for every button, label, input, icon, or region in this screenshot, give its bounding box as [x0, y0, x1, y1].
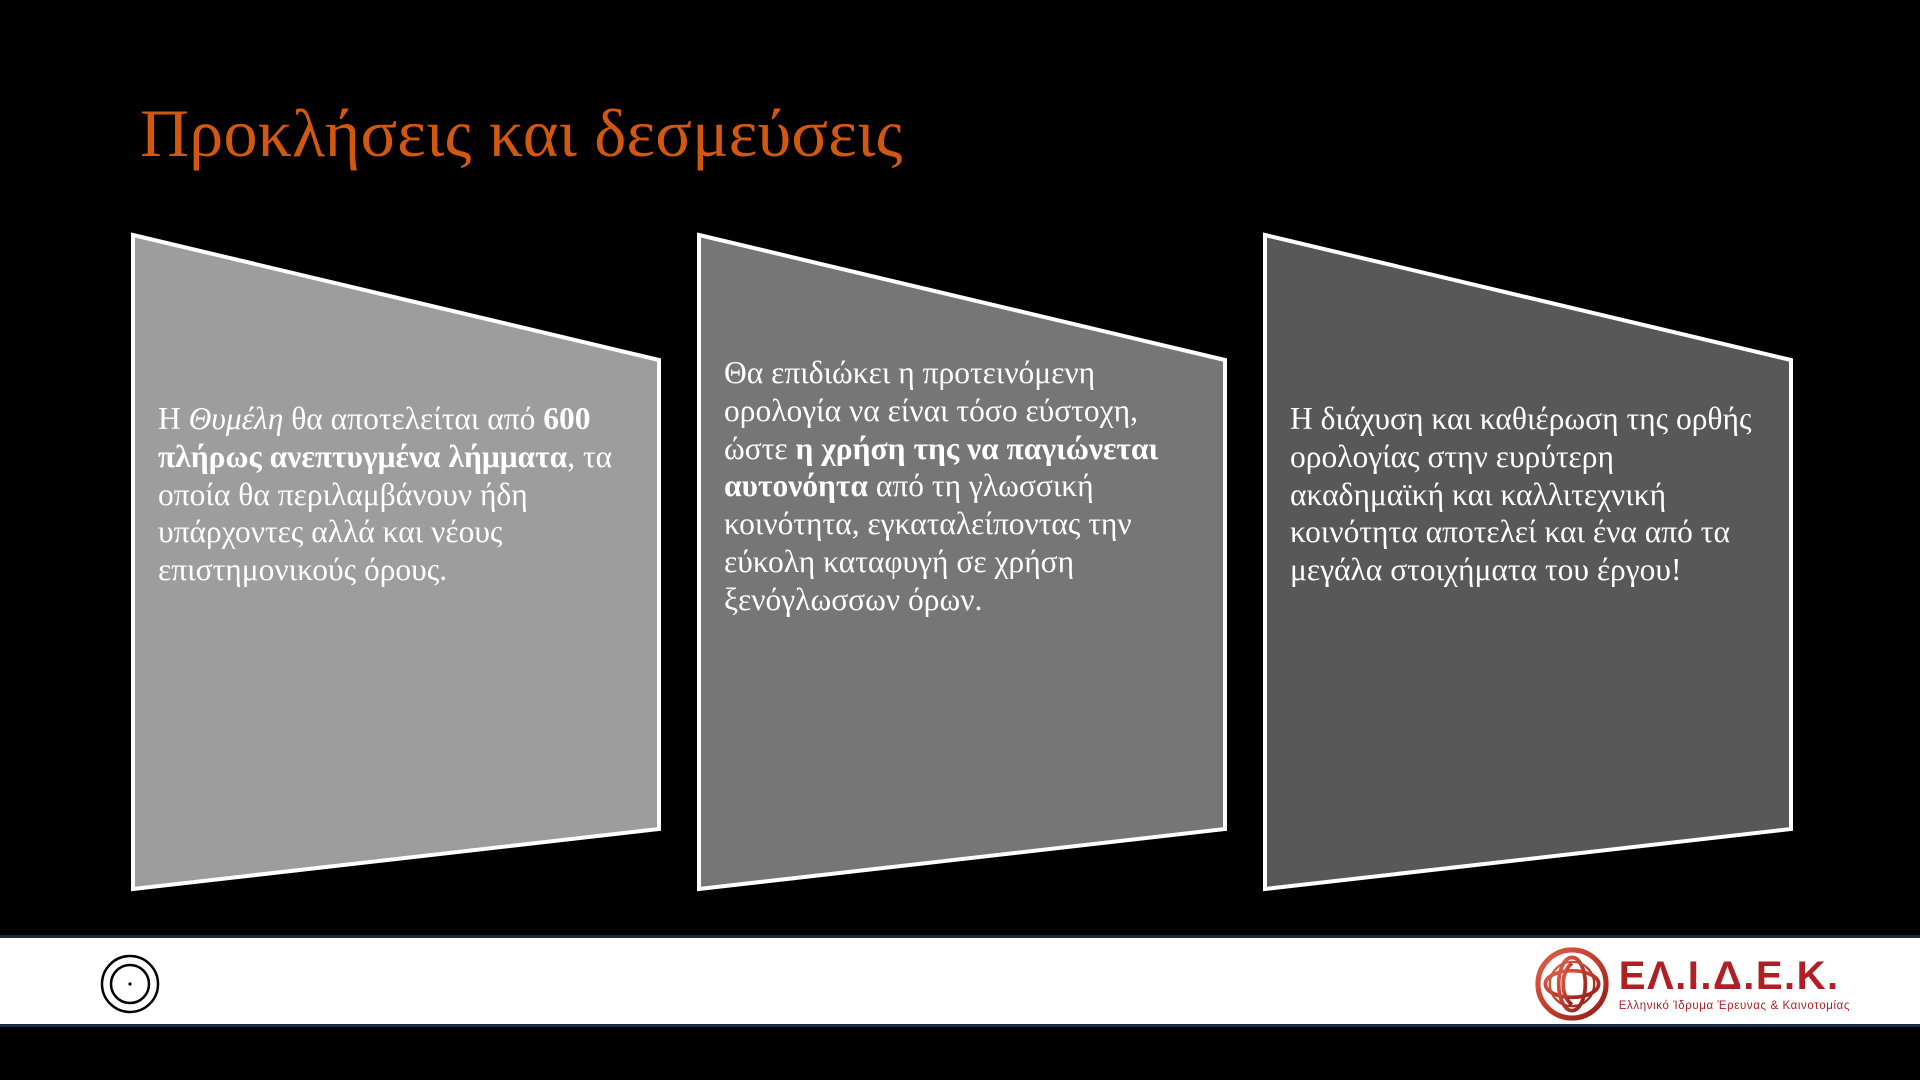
elidek-wordmark: ΕΛ.Ι.Δ.Ε.Κ. Ελληνικό Ίδρυμα Έρευνας & Κα…	[1619, 956, 1850, 1013]
elidek-emblem-icon	[1535, 947, 1609, 1021]
panel-3-seg-0: Η διάχυση και καθιέρωση της ορθής ορολογ…	[1290, 401, 1751, 587]
panel-3-text: Η διάχυση και καθιέρωση της ορθής ορολογ…	[1290, 400, 1760, 589]
elidek-logo[interactable]: ΕΛ.Ι.Δ.Ε.Κ. Ελληνικό Ίδρυμα Έρευνας & Κα…	[1535, 942, 1850, 1026]
footer-bar: ΕΛ.Ι.Δ.Ε.Κ. Ελληνικό Ίδρυμα Έρευνας & Κα…	[0, 935, 1920, 1027]
content-panel-2[interactable]: Θα επιδιώκει η προτεινόμενη ορολογία να …	[696, 232, 1228, 892]
panel-1-seg-0: Η	[158, 401, 189, 436]
concentric-circles-icon	[98, 952, 162, 1016]
panel-1-seg-2: θα αποτελείται από	[283, 401, 543, 436]
panel-1-text: Η Θυμέλη θα αποτελείται από 600 πλήρως α…	[158, 400, 628, 589]
panel-1-seg-1: Θυμέλη	[189, 401, 284, 436]
page-title: Προκλήσεις και δεσμεύσεις	[140, 96, 1640, 171]
elidek-acronym: ΕΛ.Ι.Δ.Ε.Κ.	[1619, 956, 1850, 996]
slide-canvas: Προκλήσεις και δεσμεύσεις Η Θυμέλη θα απ…	[0, 0, 1920, 1080]
content-panel-3[interactable]: Η διάχυση και καθιέρωση της ορθής ορολογ…	[1262, 232, 1794, 892]
elidek-tagline: Ελληνικό Ίδρυμα Έρευνας & Καινοτομίας	[1619, 1001, 1850, 1013]
content-panel-1[interactable]: Η Θυμέλη θα αποτελείται από 600 πλήρως α…	[130, 232, 662, 892]
panel-2-text: Θα επιδιώκει η προτεινόμενη ορολογία να …	[724, 354, 1194, 619]
